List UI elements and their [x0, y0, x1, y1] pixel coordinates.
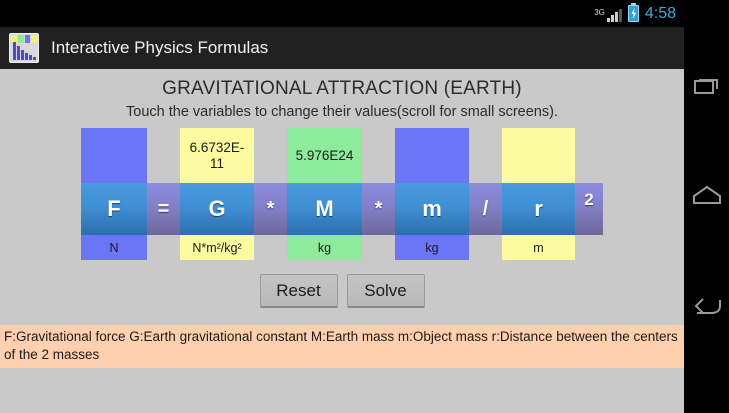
back-button[interactable]	[684, 282, 729, 328]
formula-column-/: /	[469, 128, 502, 260]
signal-strength-icon	[607, 9, 622, 22]
formula-column-F: FN	[81, 128, 147, 260]
formula-column-M: 5.976E24Mkg	[287, 128, 362, 260]
formula-column-=: =	[147, 128, 180, 260]
solve-button[interactable]: Solve	[347, 274, 425, 308]
formula-table-wrap: FN=6.6732E-11GN*m²/kg²*5.976E24Mkg*mkg/r…	[0, 128, 684, 260]
status-bar: 3G 4:58	[0, 0, 684, 27]
device-screen: 3G 4:58 Interactive Physics Formulas GRA…	[0, 0, 729, 413]
value-cell-spacer	[147, 128, 180, 183]
symbol-cell-m[interactable]: m	[395, 183, 469, 235]
status-bar-right: 3G 4:58	[594, 0, 676, 27]
value-cell-G[interactable]: 6.6732E-11	[180, 128, 254, 183]
value-cell-spacer	[575, 128, 603, 183]
formula-column-m: mkg	[395, 128, 469, 260]
value-cell-spacer	[469, 128, 502, 183]
status-clock: 4:58	[645, 5, 676, 23]
unit-cell-G: N*m²/kg²	[180, 235, 254, 260]
value-cell-r[interactable]	[502, 128, 575, 183]
action-button-row: Reset Solve	[0, 274, 684, 308]
operator-cell-2: 2	[575, 183, 603, 235]
symbol-cell-G[interactable]: G	[180, 183, 254, 235]
operator-cell-*: *	[362, 183, 395, 235]
formula-table: FN=6.6732E-11GN*m²/kg²*5.976E24Mkg*mkg/r…	[81, 128, 603, 260]
symbol-cell-M[interactable]: M	[287, 183, 362, 235]
app-logo-bars	[13, 42, 36, 60]
unit-cell-m: kg	[395, 235, 469, 260]
unit-cell-r: m	[502, 235, 575, 260]
unit-cell-spacer	[362, 235, 395, 260]
value-cell-spacer	[254, 128, 287, 183]
reset-button[interactable]: Reset	[260, 274, 338, 308]
symbol-cell-r[interactable]: r	[502, 183, 575, 235]
instruction-text: Touch the variables to change their valu…	[0, 104, 684, 120]
app-logo-icon	[9, 33, 39, 63]
formula-column-2: 2	[575, 128, 603, 260]
signal-bars-icon: 3G	[594, 6, 622, 22]
operator-cell-/: /	[469, 183, 502, 235]
unit-cell-M: kg	[287, 235, 362, 260]
value-cell-m[interactable]	[395, 128, 469, 183]
system-navigation-bar	[684, 0, 729, 413]
legend-text: F:Gravitational force G:Earth gravitatio…	[0, 325, 684, 368]
app-title: Interactive Physics Formulas	[51, 38, 268, 58]
back-arrow-icon	[692, 294, 722, 316]
home-icon	[692, 185, 722, 205]
operator-cell-*: *	[254, 183, 287, 235]
symbol-cell-F[interactable]: F	[81, 183, 147, 235]
unit-cell-spacer	[469, 235, 502, 260]
formula-column-*: *	[362, 128, 395, 260]
app-action-bar: Interactive Physics Formulas	[0, 27, 684, 69]
unit-cell-spacer	[254, 235, 287, 260]
formula-column-r: rm	[502, 128, 575, 260]
formula-column-G: 6.6732E-11GN*m²/kg²	[180, 128, 254, 260]
value-cell-spacer	[362, 128, 395, 183]
operator-cell-=: =	[147, 183, 180, 235]
formula-column-*: *	[254, 128, 287, 260]
value-cell-M[interactable]: 5.976E24	[287, 128, 362, 183]
unit-cell-F: N	[81, 235, 147, 260]
recent-apps-button[interactable]	[684, 62, 729, 108]
battery-charging-icon	[628, 5, 639, 22]
value-cell-F[interactable]	[81, 128, 147, 183]
app-content: GRAVITATIONAL ATTRACTION (EARTH) Touch t…	[0, 69, 684, 413]
page-title: GRAVITATIONAL ATTRACTION (EARTH)	[0, 78, 684, 100]
home-button[interactable]	[684, 172, 729, 218]
unit-cell-spacer	[575, 235, 603, 260]
lightning-bolt-icon	[631, 8, 637, 19]
recent-apps-icon	[694, 74, 720, 96]
network-type-label: 3G	[594, 9, 605, 17]
unit-cell-spacer	[147, 235, 180, 260]
